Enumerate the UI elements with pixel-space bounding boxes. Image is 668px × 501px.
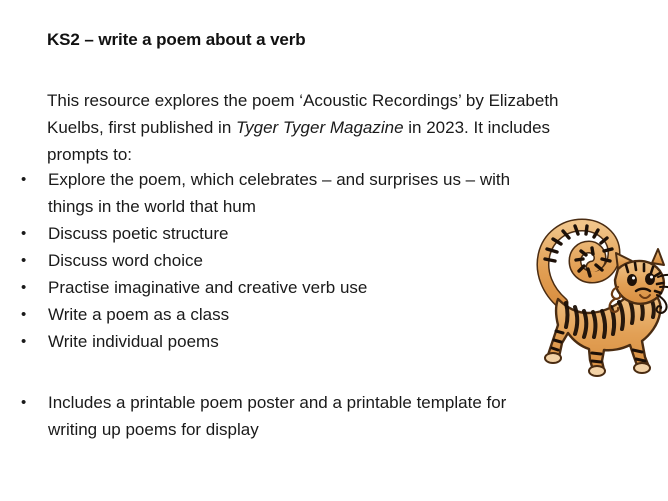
list-item: • Explore the poem, which celebrates – a… — [16, 166, 546, 220]
list-item-label: Discuss poetic structure — [48, 220, 546, 247]
extras-list: • Includes a printable poem poster and a… — [16, 389, 546, 443]
list-item-label: Write individual poems — [48, 328, 546, 355]
page-title: KS2 – write a poem about a verb — [47, 30, 306, 50]
bullet-icon: • — [21, 301, 38, 328]
bullet-icon: • — [21, 274, 38, 301]
list-item: • Includes a printable poem poster and a… — [16, 389, 546, 443]
list-item-label: Write a poem as a class — [48, 301, 546, 328]
list-item-label: Includes a printable poem poster and a p… — [48, 389, 546, 443]
publication-title: Tyger Tyger Magazine — [236, 118, 404, 137]
prompts-list: • Explore the poem, which celebrates – a… — [16, 166, 546, 355]
bullet-icon: • — [21, 220, 38, 247]
list-item: • Practise imaginative and creative verb… — [16, 274, 546, 301]
list-item: • Write a poem as a class — [16, 301, 546, 328]
document-page: KS2 – write a poem about a verb This res… — [0, 0, 668, 501]
list-item-label: Explore the poem, which celebrates – and… — [48, 166, 546, 220]
tiger-icon — [518, 207, 668, 377]
list-item-label: Discuss word choice — [48, 247, 546, 274]
bullet-icon: • — [21, 247, 38, 274]
intro-paragraph: This resource explores the poem ‘Acousti… — [47, 87, 607, 168]
tiger-illustration — [518, 207, 668, 377]
list-item: • Discuss word choice — [16, 247, 546, 274]
bullet-icon: • — [21, 328, 38, 355]
bullet-icon: • — [21, 389, 38, 416]
list-item-label: Practise imaginative and creative verb u… — [48, 274, 546, 301]
bullet-icon: • — [21, 166, 38, 193]
tiger-tail — [543, 225, 614, 303]
list-item: • Discuss poetic structure — [16, 220, 546, 247]
list-item: • Write individual poems — [16, 328, 546, 355]
